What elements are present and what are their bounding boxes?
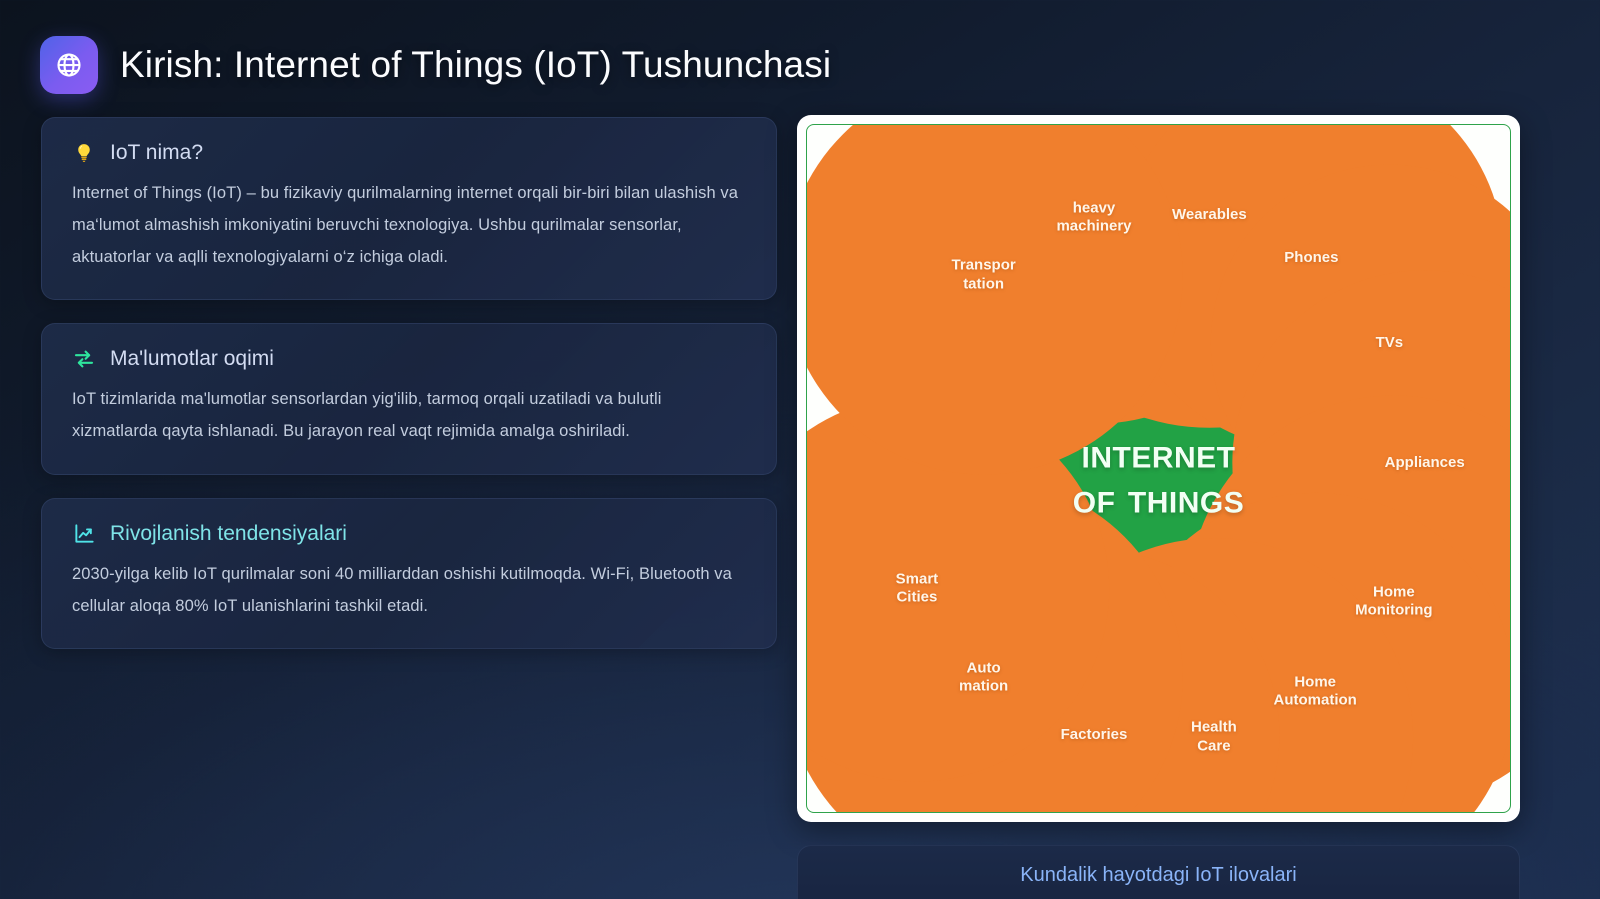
next-section-title: Kundalik hayotdagi IoT ilovalari: [798, 864, 1519, 887]
page-title: Kirish: Internet of Things (IoT) Tushunc…: [120, 45, 831, 86]
card-iot-nima: IoT nima? Internet of Things (IoT) – bu …: [41, 117, 777, 300]
card-body: Internet of Things (IoT) – bu fizikaviy …: [72, 178, 746, 273]
page-header: Kirish: Internet of Things (IoT) Tushunc…: [40, 36, 831, 94]
data-exchange-arrows-icon: [72, 347, 96, 371]
card-title: Rivojlanish tendensiyalari: [110, 521, 347, 546]
slide-root: Kirish: Internet of Things (IoT) Tushunc…: [0, 0, 1600, 899]
card-title: Ma'lumotlar oqimi: [110, 346, 274, 371]
globe-icon: [40, 36, 98, 94]
chart-increasing-icon: [72, 521, 96, 545]
card-body: IoT tizimlarida ma'lumotlar sensorlardan…: [72, 384, 746, 447]
diagram-canvas: [807, 125, 1510, 812]
card-header: Rivojlanish tendensiyalari: [72, 521, 746, 546]
lightbulb-icon: [72, 141, 96, 165]
card-malumotlar-oqimi: Ma'lumotlar oqimi IoT tizimlarida ma'lum…: [41, 323, 777, 475]
info-cards-column: IoT nima? Internet of Things (IoT) – bu …: [41, 117, 777, 672]
card-header: IoT nima?: [72, 140, 746, 165]
card-body: 2030-yilga kelib IoT qurilmalar soni 40 …: [72, 559, 746, 622]
iot-diagram-panel: www.theengineeringprojects.com Internet …: [797, 115, 1520, 822]
iot-hub-spoke-diagram: Internet of Things heavy machineryWearab…: [807, 125, 1510, 812]
card-title: IoT nima?: [110, 140, 203, 165]
diagram-frame: www.theengineeringprojects.com Internet …: [806, 124, 1511, 813]
card-rivojlanish-tendensiyalari: Rivojlanish tendensiyalari 2030-yilga ke…: [41, 498, 777, 650]
next-section-panel: Kundalik hayotdagi IoT ilovalari: [797, 845, 1520, 899]
card-header: Ma'lumotlar oqimi: [72, 346, 746, 371]
